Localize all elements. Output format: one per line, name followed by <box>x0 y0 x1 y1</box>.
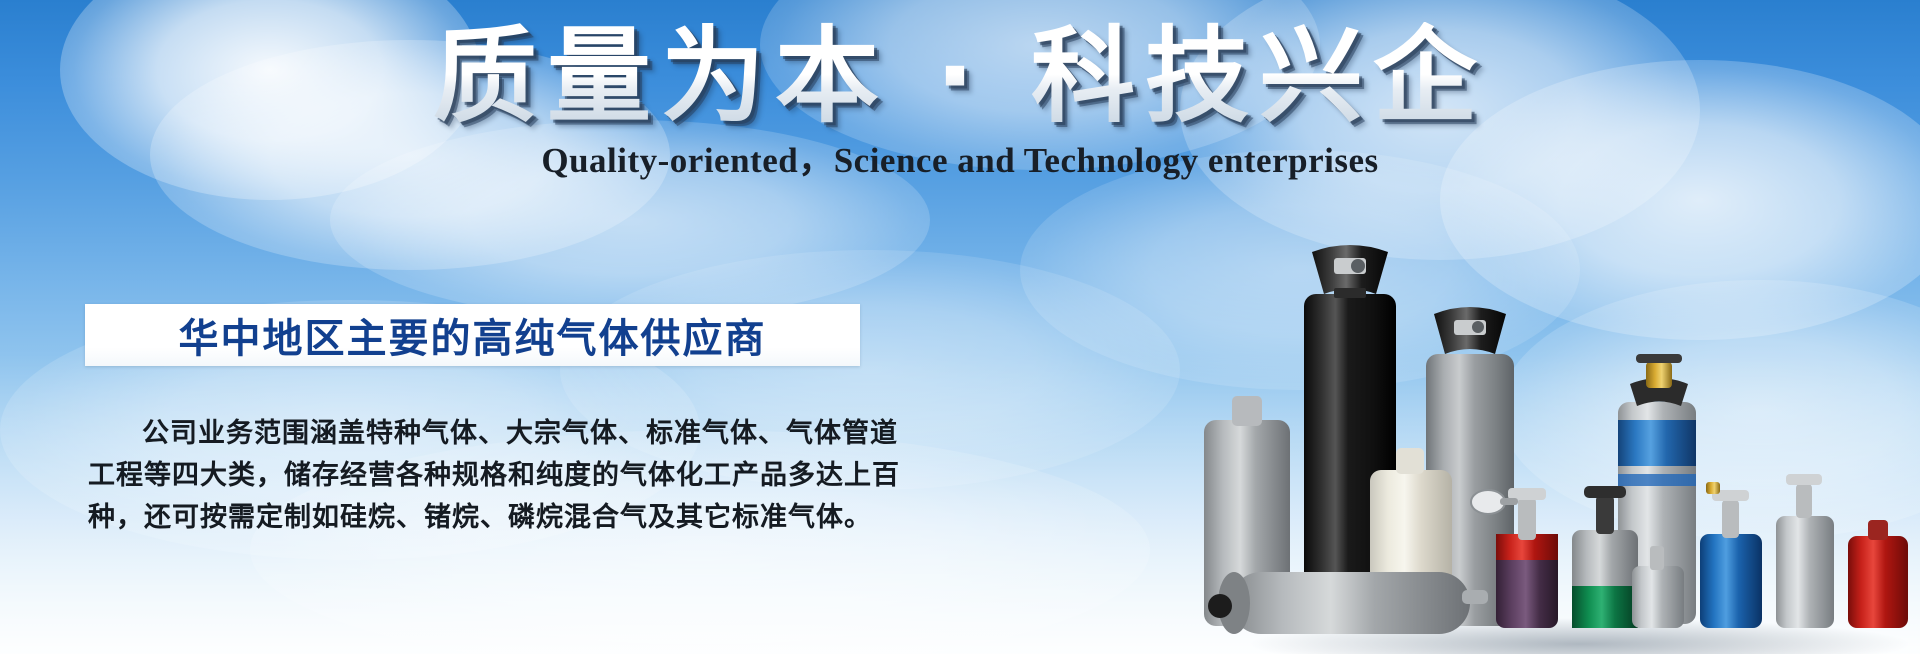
promotional-banner: 质量为本 · 科技兴企 质量为本 · 科技兴企 Quality-oriented… <box>0 0 1920 654</box>
highlight-box: 华中地区主要的高纯气体供应商 <box>85 304 860 366</box>
banner-body-paragraph: 公司业务范围涵盖特种气体、大宗气体、标准气体、气体管道 工程等四大类，储存经营各… <box>88 412 878 538</box>
body-line: 种，还可按需定制如硅烷、锗烷、磷烷混合气及其它标准气体。 <box>88 496 878 538</box>
body-line: 工程等四大类，储存经营各种规格和纯度的气体化工产品多达上百 <box>88 454 878 496</box>
cylinder-horizontal-grey <box>1208 572 1488 634</box>
body-line: 公司业务范围涵盖特种气体、大宗气体、标准气体、气体管道 <box>88 412 878 454</box>
cylinder-aluminium <box>1776 474 1834 628</box>
cylinder-blue-small <box>1700 482 1762 628</box>
highlight-box-text: 华中地区主要的高纯气体供应商 <box>179 306 767 364</box>
banner-subheadline: Quality-oriented，Science and Technology … <box>0 132 1920 183</box>
banner-headline: 质量为本 · 科技兴企 <box>0 22 1920 131</box>
gas-cylinder-group-image <box>1200 234 1920 654</box>
cylinder-red-short <box>1848 520 1908 628</box>
